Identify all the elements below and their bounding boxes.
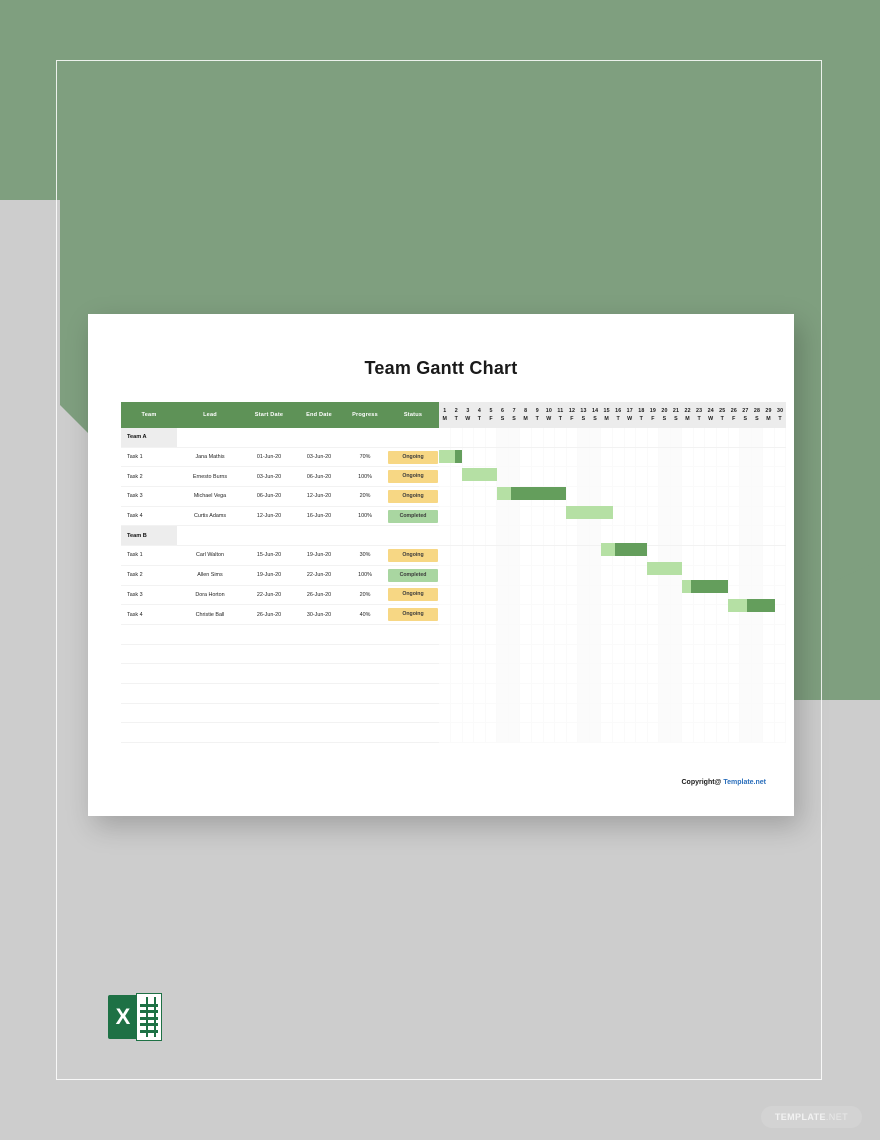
gantt-cell-day-9[interactable]: [532, 723, 544, 743]
gantt-cell-day-4[interactable]: [474, 487, 486, 507]
gantt-cell-day-4[interactable]: [474, 506, 486, 526]
gantt-cell-day-14[interactable]: [589, 546, 601, 566]
gantt-cell-day-13[interactable]: [578, 467, 590, 487]
gantt-cell-day-23[interactable]: [693, 546, 705, 566]
gantt-cell-day-15[interactable]: [601, 565, 613, 585]
gantt-cell-day-5[interactable]: [485, 664, 497, 684]
gantt-cell-day-7[interactable]: [508, 664, 520, 684]
gantt-cell-day-6[interactable]: [497, 585, 509, 605]
gantt-cell-day-12[interactable]: [566, 703, 578, 723]
gantt-cell-day-18[interactable]: [636, 447, 648, 467]
gantt-cell-day-26[interactable]: [728, 506, 740, 526]
gantt-cell-day-18[interactable]: [636, 526, 648, 546]
gantt-cell-day-26[interactable]: [728, 644, 740, 664]
gantt-cell-day-19[interactable]: [647, 506, 659, 526]
gantt-cell-day-9[interactable]: [532, 585, 544, 605]
gantt-cell-day-14[interactable]: [589, 624, 601, 644]
gantt-cell-day-9[interactable]: [532, 664, 544, 684]
gantt-cell-day-2[interactable]: [451, 467, 463, 487]
task-lead[interactable]: Michael Vega: [177, 487, 243, 507]
gantt-cell-day-16[interactable]: [612, 428, 624, 447]
gantt-cell-day-21[interactable]: [670, 487, 682, 507]
gantt-cell-day-9[interactable]: [532, 565, 544, 585]
gantt-cell-day-20[interactable]: [659, 683, 671, 703]
status-badge[interactable]: Completed: [388, 569, 438, 582]
gantt-cell-day-28[interactable]: [751, 624, 763, 644]
empty-cell[interactable]: [387, 723, 439, 743]
gantt-cell-day-15[interactable]: [601, 644, 613, 664]
gantt-cell-day-15[interactable]: [601, 585, 613, 605]
gantt-cell-day-3[interactable]: [462, 467, 474, 487]
gantt-cell-day-2[interactable]: [451, 428, 463, 447]
empty-cell[interactable]: [121, 644, 177, 664]
task-progress[interactable]: 70%: [343, 447, 387, 467]
empty-cell[interactable]: [387, 644, 439, 664]
gantt-cell-day-19[interactable]: [647, 487, 659, 507]
gantt-cell-day-28[interactable]: [751, 703, 763, 723]
gantt-cell-day-10[interactable]: [543, 605, 555, 625]
gantt-cell-day-19[interactable]: [647, 683, 659, 703]
gantt-cell-day-28[interactable]: [751, 546, 763, 566]
gantt-cell-day-4[interactable]: [474, 605, 486, 625]
gantt-cell-day-6[interactable]: [497, 467, 509, 487]
gantt-cell-day-22[interactable]: [682, 723, 694, 743]
gantt-cell-day-5[interactable]: [485, 644, 497, 664]
gantt-cell-day-28[interactable]: [751, 585, 763, 605]
empty-cell[interactable]: [295, 703, 343, 723]
gantt-cell-day-5[interactable]: [485, 487, 497, 507]
gantt-cell-day-8[interactable]: [520, 624, 532, 644]
gantt-cell-day-9[interactable]: [532, 526, 544, 546]
gantt-cell-day-11[interactable]: [555, 447, 567, 467]
gantt-cell-day-20[interactable]: [659, 526, 671, 546]
gantt-cell-day-9[interactable]: [532, 506, 544, 526]
gantt-cell-day-16[interactable]: [612, 506, 624, 526]
gantt-cell-day-21[interactable]: [670, 585, 682, 605]
gantt-cell-day-10[interactable]: [543, 467, 555, 487]
task-status-cell[interactable]: Ongoing: [387, 605, 439, 625]
gantt-cell-day-13[interactable]: [578, 526, 590, 546]
gantt-cell-day-19[interactable]: [647, 526, 659, 546]
gantt-cell-day-5[interactable]: [485, 526, 497, 546]
task-end-date[interactable]: 26-Jun-20: [295, 585, 343, 605]
gantt-cell-day-19[interactable]: [647, 585, 659, 605]
gantt-cell-day-20[interactable]: [659, 585, 671, 605]
gantt-cell-day-5[interactable]: [485, 428, 497, 447]
gantt-cell-day-29[interactable]: [763, 487, 775, 507]
gantt-cell-day-18[interactable]: [636, 546, 648, 566]
gantt-cell-day-14[interactable]: [589, 664, 601, 684]
gantt-cell-day-15[interactable]: [601, 428, 613, 447]
gantt-cell-day-28[interactable]: [751, 565, 763, 585]
gantt-cell-day-24[interactable]: [705, 723, 717, 743]
gantt-cell-day-28[interactable]: [751, 683, 763, 703]
gantt-cell-day-30[interactable]: [774, 683, 786, 703]
gantt-cell-day-25[interactable]: [717, 447, 729, 467]
empty-cell[interactable]: [121, 723, 177, 743]
empty-cell[interactable]: [343, 664, 387, 684]
gantt-cell-day-21[interactable]: [670, 723, 682, 743]
gantt-cell-day-10[interactable]: [543, 585, 555, 605]
gantt-cell-day-22[interactable]: [682, 605, 694, 625]
gantt-cell-day-1[interactable]: [439, 526, 451, 546]
gantt-cell-day-29[interactable]: [763, 605, 775, 625]
gantt-cell-day-24[interactable]: [705, 683, 717, 703]
gantt-cell-day-20[interactable]: [659, 428, 671, 447]
gantt-cell-day-17[interactable]: [624, 487, 636, 507]
gantt-cell-day-17[interactable]: [624, 664, 636, 684]
task-start-date[interactable]: 01-Jun-20: [243, 447, 295, 467]
gantt-cell-day-28[interactable]: [751, 723, 763, 743]
gantt-cell-day-16[interactable]: [612, 703, 624, 723]
gantt-cell-day-15[interactable]: [601, 447, 613, 467]
gantt-cell-day-3[interactable]: [462, 585, 474, 605]
gantt-cell-day-24[interactable]: [705, 585, 717, 605]
gantt-cell-day-4[interactable]: [474, 447, 486, 467]
gantt-cell-day-7[interactable]: [508, 447, 520, 467]
gantt-cell-day-20[interactable]: [659, 546, 671, 566]
gantt-cell-day-13[interactable]: [578, 683, 590, 703]
empty-cell[interactable]: [243, 624, 295, 644]
empty-cell[interactable]: [177, 664, 243, 684]
gantt-cell-day-20[interactable]: [659, 565, 671, 585]
gantt-cell-day-29[interactable]: [763, 683, 775, 703]
gantt-cell-day-1[interactable]: [439, 605, 451, 625]
task-start-date[interactable]: 15-Jun-20: [243, 546, 295, 566]
gantt-cell-day-16[interactable]: [612, 683, 624, 703]
gantt-cell-day-1[interactable]: [439, 644, 451, 664]
gantt-cell-day-21[interactable]: [670, 565, 682, 585]
gantt-cell-day-26[interactable]: [728, 487, 740, 507]
gantt-cell-day-10[interactable]: [543, 565, 555, 585]
gantt-cell-day-10[interactable]: [543, 526, 555, 546]
gantt-cell-day-8[interactable]: [520, 644, 532, 664]
task-status-cell[interactable]: Ongoing: [387, 467, 439, 487]
gantt-cell-day-26[interactable]: [728, 467, 740, 487]
gantt-cell-day-1[interactable]: [439, 565, 451, 585]
gantt-cell-day-21[interactable]: [670, 546, 682, 566]
empty-cell[interactable]: [343, 624, 387, 644]
gantt-cell-day-30[interactable]: [774, 605, 786, 625]
gantt-cell-day-21[interactable]: [670, 664, 682, 684]
gantt-cell-day-18[interactable]: [636, 605, 648, 625]
gantt-cell-day-11[interactable]: [555, 683, 567, 703]
gantt-cell-day-18[interactable]: [636, 683, 648, 703]
gantt-cell-day-29[interactable]: [763, 447, 775, 467]
gantt-cell-day-27[interactable]: [740, 624, 752, 644]
gantt-cell-day-9[interactable]: [532, 605, 544, 625]
gantt-cell-day-1[interactable]: [439, 664, 451, 684]
task-name[interactable]: Task 4: [121, 605, 177, 625]
column-header-end-date[interactable]: End Date: [295, 402, 343, 428]
gantt-cell-day-23[interactable]: [693, 526, 705, 546]
gantt-cell-day-3[interactable]: [462, 506, 474, 526]
gantt-cell-day-6[interactable]: [497, 664, 509, 684]
empty-cell[interactable]: [295, 624, 343, 644]
status-badge[interactable]: Ongoing: [388, 470, 438, 483]
gantt-cell-day-23[interactable]: [693, 467, 705, 487]
gantt-cell-day-26[interactable]: [728, 428, 740, 447]
gantt-cell-day-12[interactable]: [566, 664, 578, 684]
gantt-cell-day-16[interactable]: [612, 644, 624, 664]
gantt-cell-day-27[interactable]: [740, 703, 752, 723]
task-progress[interactable]: 30%: [343, 546, 387, 566]
gantt-cell-day-5[interactable]: [485, 605, 497, 625]
gantt-cell-day-25[interactable]: [717, 723, 729, 743]
table-body[interactable]: Team ATask 1Jana Mathis01-Jun-2003-Jun-2…: [121, 428, 786, 743]
gantt-cell-day-4[interactable]: [474, 624, 486, 644]
gantt-cell-day-15[interactable]: [601, 526, 613, 546]
task-status-cell[interactable]: Ongoing: [387, 546, 439, 566]
gantt-cell-day-30[interactable]: [774, 565, 786, 585]
gantt-cell-day-17[interactable]: [624, 683, 636, 703]
gantt-cell-day-27[interactable]: [740, 447, 752, 467]
gantt-cell-day-9[interactable]: [532, 467, 544, 487]
gantt-cell-day-29[interactable]: [763, 546, 775, 566]
gantt-cell-day-30[interactable]: [774, 447, 786, 467]
gantt-cell-day-25[interactable]: [717, 585, 729, 605]
gantt-cell-day-6[interactable]: [497, 526, 509, 546]
empty-cell[interactable]: [121, 624, 177, 644]
gantt-cell-day-22[interactable]: [682, 526, 694, 546]
gantt-cell-day-27[interactable]: [740, 565, 752, 585]
empty-cell[interactable]: [177, 644, 243, 664]
task-start-date[interactable]: 22-Jun-20: [243, 585, 295, 605]
gantt-cell-day-5[interactable]: [485, 723, 497, 743]
gantt-cell-day-15[interactable]: [601, 546, 613, 566]
gantt-cell-day-19[interactable]: [647, 664, 659, 684]
gantt-cell-day-23[interactable]: [693, 487, 705, 507]
gantt-cell-day-23[interactable]: [693, 723, 705, 743]
status-badge[interactable]: Ongoing: [388, 549, 438, 562]
gantt-cell-day-24[interactable]: [705, 526, 717, 546]
gantt-cell-day-19[interactable]: [647, 467, 659, 487]
gantt-cell-day-12[interactable]: [566, 624, 578, 644]
task-name[interactable]: Task 3: [121, 487, 177, 507]
gantt-cell-day-15[interactable]: [601, 467, 613, 487]
gantt-cell-day-11[interactable]: [555, 487, 567, 507]
gantt-cell-day-1[interactable]: [439, 624, 451, 644]
gantt-cell-day-28[interactable]: [751, 467, 763, 487]
gantt-cell-day-28[interactable]: [751, 664, 763, 684]
gantt-cell-day-23[interactable]: [693, 624, 705, 644]
column-header-start-date[interactable]: Start Date: [243, 402, 295, 428]
table-row[interactable]: Task 2Ernesto Burns03-Jun-2006-Jun-20100…: [121, 467, 786, 487]
empty-cell[interactable]: [177, 723, 243, 743]
gantt-cell-day-18[interactable]: [636, 723, 648, 743]
gantt-cell-day-24[interactable]: [705, 664, 717, 684]
gantt-cell-day-27[interactable]: [740, 644, 752, 664]
gantt-cell-day-16[interactable]: [612, 565, 624, 585]
gantt-cell-day-10[interactable]: [543, 723, 555, 743]
gantt-cell-day-24[interactable]: [705, 644, 717, 664]
gantt-cell-day-25[interactable]: [717, 664, 729, 684]
gantt-cell-day-25[interactable]: [717, 428, 729, 447]
gantt-cell-day-11[interactable]: [555, 506, 567, 526]
task-progress[interactable]: 100%: [343, 565, 387, 585]
gantt-cell-day-6[interactable]: [497, 428, 509, 447]
gantt-cell-day-13[interactable]: [578, 723, 590, 743]
gantt-cell-day-8[interactable]: [520, 585, 532, 605]
gantt-cell-day-1[interactable]: [439, 506, 451, 526]
gantt-cell-day-2[interactable]: [451, 447, 463, 467]
gantt-cell-day-1[interactable]: [439, 585, 451, 605]
gantt-cell-day-3[interactable]: [462, 487, 474, 507]
gantt-cell-day-11[interactable]: [555, 585, 567, 605]
gantt-cell-day-10[interactable]: [543, 703, 555, 723]
gantt-cell-day-11[interactable]: [555, 644, 567, 664]
gantt-cell-day-4[interactable]: [474, 428, 486, 447]
task-end-date[interactable]: 12-Jun-20: [295, 487, 343, 507]
gantt-cell-day-9[interactable]: [532, 447, 544, 467]
gantt-cell-day-30[interactable]: [774, 624, 786, 644]
empty-cell[interactable]: [243, 703, 295, 723]
gantt-cell-day-14[interactable]: [589, 585, 601, 605]
empty-cell[interactable]: [343, 723, 387, 743]
gantt-cell-day-1[interactable]: [439, 683, 451, 703]
empty-table-row[interactable]: [121, 723, 786, 743]
gantt-cell-day-3[interactable]: [462, 703, 474, 723]
gantt-cell-day-8[interactable]: [520, 664, 532, 684]
gantt-cell-day-24[interactable]: [705, 487, 717, 507]
gantt-cell-day-28[interactable]: [751, 644, 763, 664]
table-row[interactable]: Task 3Michael Vega06-Jun-2012-Jun-2020%O…: [121, 487, 786, 507]
gantt-cell-day-26[interactable]: [728, 703, 740, 723]
empty-table-row[interactable]: [121, 624, 786, 644]
gantt-cell-day-7[interactable]: [508, 428, 520, 447]
gantt-cell-day-5[interactable]: [485, 467, 497, 487]
gantt-cell-day-25[interactable]: [717, 683, 729, 703]
empty-cell[interactable]: [243, 664, 295, 684]
gantt-cell-day-10[interactable]: [543, 664, 555, 684]
gantt-cell-day-24[interactable]: [705, 546, 717, 566]
gantt-cell-day-7[interactable]: [508, 644, 520, 664]
task-name[interactable]: Task 3: [121, 585, 177, 605]
task-end-date[interactable]: 22-Jun-20: [295, 565, 343, 585]
gantt-cell-day-16[interactable]: [612, 447, 624, 467]
gantt-cell-day-8[interactable]: [520, 565, 532, 585]
empty-cell[interactable]: [121, 683, 177, 703]
empty-cell[interactable]: [343, 683, 387, 703]
gantt-cell-day-6[interactable]: [497, 487, 509, 507]
gantt-cell-day-6[interactable]: [497, 723, 509, 743]
gantt-cell-day-1[interactable]: [439, 447, 451, 467]
empty-cell[interactable]: [295, 644, 343, 664]
gantt-cell-day-8[interactable]: [520, 605, 532, 625]
gantt-cell-day-3[interactable]: [462, 526, 474, 546]
gantt-cell-day-18[interactable]: [636, 644, 648, 664]
gantt-cell-day-5[interactable]: [485, 585, 497, 605]
gantt-cell-day-14[interactable]: [589, 723, 601, 743]
gantt-cell-day-18[interactable]: [636, 428, 648, 447]
gantt-cell-day-29[interactable]: [763, 624, 775, 644]
gantt-cell-day-11[interactable]: [555, 664, 567, 684]
gantt-cell-day-2[interactable]: [451, 506, 463, 526]
gantt-cell-day-14[interactable]: [589, 487, 601, 507]
gantt-cell-day-3[interactable]: [462, 565, 474, 585]
empty-cell[interactable]: [343, 644, 387, 664]
gantt-cell-day-12[interactable]: [566, 428, 578, 447]
table-row[interactable]: Task 4Christie Ball26-Jun-2030-Jun-2040%…: [121, 605, 786, 625]
gantt-cell-day-5[interactable]: [485, 447, 497, 467]
gantt-cell-day-3[interactable]: [462, 664, 474, 684]
gantt-cell-day-27[interactable]: [740, 585, 752, 605]
gantt-cell-day-30[interactable]: [774, 664, 786, 684]
gantt-cell-day-26[interactable]: [728, 723, 740, 743]
empty-cell[interactable]: [121, 703, 177, 723]
gantt-cell-day-23[interactable]: [693, 664, 705, 684]
gantt-cell-day-30[interactable]: [774, 526, 786, 546]
gantt-cell-day-8[interactable]: [520, 467, 532, 487]
gantt-cell-day-7[interactable]: [508, 506, 520, 526]
gantt-cell-day-20[interactable]: [659, 605, 671, 625]
gantt-cell-day-3[interactable]: [462, 723, 474, 743]
gantt-cell-day-12[interactable]: [566, 506, 578, 526]
gantt-cell-day-22[interactable]: [682, 487, 694, 507]
empty-cell[interactable]: [177, 703, 243, 723]
gantt-cell-day-6[interactable]: [497, 546, 509, 566]
gantt-cell-day-19[interactable]: [647, 546, 659, 566]
gantt-cell-day-7[interactable]: [508, 526, 520, 546]
gantt-cell-day-19[interactable]: [647, 644, 659, 664]
gantt-cell-day-10[interactable]: [543, 487, 555, 507]
gantt-cell-day-18[interactable]: [636, 506, 648, 526]
gantt-cell-day-20[interactable]: [659, 703, 671, 723]
gantt-table[interactable]: TeamLeadStart DateEnd DateProgressStatus…: [121, 402, 786, 743]
gantt-cell-day-5[interactable]: [485, 624, 497, 644]
gantt-cell-day-19[interactable]: [647, 565, 659, 585]
empty-table-row[interactable]: [121, 703, 786, 723]
gantt-cell-day-23[interactable]: [693, 605, 705, 625]
gantt-cell-day-20[interactable]: [659, 447, 671, 467]
gantt-cell-day-29[interactable]: [763, 644, 775, 664]
gantt-cell-day-24[interactable]: [705, 506, 717, 526]
gantt-cell-day-4[interactable]: [474, 526, 486, 546]
task-lead[interactable]: Dora Horton: [177, 585, 243, 605]
task-lead[interactable]: Carl Walton: [177, 546, 243, 566]
task-name[interactable]: Task 2: [121, 467, 177, 487]
empty-cell[interactable]: [295, 664, 343, 684]
gantt-cell-day-19[interactable]: [647, 624, 659, 644]
table-row[interactable]: Task 2Allen Sims19-Jun-2022-Jun-20100%Co…: [121, 565, 786, 585]
gantt-cell-day-4[interactable]: [474, 546, 486, 566]
gantt-cell-day-29[interactable]: [763, 506, 775, 526]
gantt-cell-day-6[interactable]: [497, 447, 509, 467]
gantt-cell-day-12[interactable]: [566, 605, 578, 625]
task-name[interactable]: Task 2: [121, 565, 177, 585]
gantt-cell-day-1[interactable]: [439, 703, 451, 723]
gantt-cell-day-22[interactable]: [682, 585, 694, 605]
gantt-cell-day-20[interactable]: [659, 624, 671, 644]
gantt-cell-day-22[interactable]: [682, 506, 694, 526]
gantt-cell-day-24[interactable]: [705, 605, 717, 625]
gantt-cell-day-10[interactable]: [543, 428, 555, 447]
gantt-cell-day-15[interactable]: [601, 683, 613, 703]
gantt-cell-day-30[interactable]: [774, 428, 786, 447]
gantt-cell-day-6[interactable]: [497, 565, 509, 585]
gantt-cell-day-3[interactable]: [462, 624, 474, 644]
gantt-cell-day-12[interactable]: [566, 526, 578, 546]
gantt-cell-day-14[interactable]: [589, 703, 601, 723]
gantt-cell-day-21[interactable]: [670, 506, 682, 526]
gantt-cell-day-24[interactable]: [705, 428, 717, 447]
gantt-cell-day-24[interactable]: [705, 565, 717, 585]
gantt-cell-day-8[interactable]: [520, 526, 532, 546]
gantt-cell-day-8[interactable]: [520, 683, 532, 703]
gantt-cell-day-10[interactable]: [543, 644, 555, 664]
gantt-cell-day-13[interactable]: [578, 428, 590, 447]
task-progress[interactable]: 100%: [343, 506, 387, 526]
